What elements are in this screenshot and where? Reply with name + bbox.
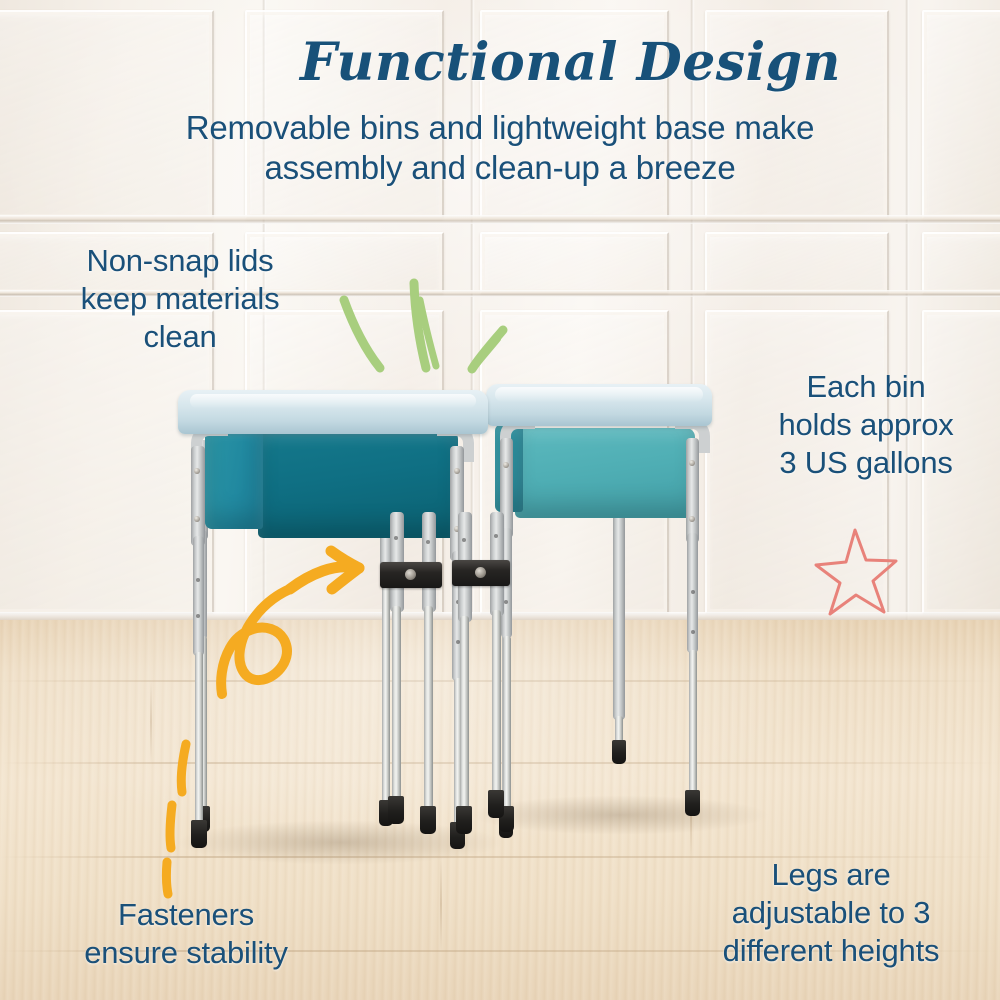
table-leg-extension xyxy=(424,606,433,816)
leg-foot xyxy=(456,806,472,834)
infographic-canvas: Functional Design Removable bins and lig… xyxy=(0,0,1000,1000)
table-leg-extension xyxy=(460,616,469,816)
callout-line: 3 US gallons xyxy=(740,444,992,482)
callout-line: Legs are xyxy=(670,856,992,894)
callout-adjustable-legs: Legs are adjustable to 3 different heigh… xyxy=(670,856,992,970)
leg-foot xyxy=(388,796,404,824)
table-leg-extension xyxy=(689,650,697,800)
leg-adjust-hole xyxy=(494,534,498,538)
leg-adjust-hole xyxy=(196,614,200,618)
leg-adjust-hole xyxy=(196,578,200,582)
leg-adjust-hole xyxy=(462,538,466,542)
callout-line: Non-snap lids xyxy=(30,242,330,280)
table-shadow xyxy=(470,795,770,835)
subtitle: Removable bins and lightweight base make… xyxy=(90,108,910,188)
table-leg xyxy=(191,446,205,546)
wall-rail-molding xyxy=(0,215,1000,224)
wall-panel xyxy=(705,232,889,294)
leg-adjust-hole xyxy=(691,590,695,594)
leg-foot xyxy=(488,790,504,818)
leg-rivet xyxy=(503,462,509,468)
callout-line: different heights xyxy=(670,932,992,970)
table-leg-extension xyxy=(503,636,511,816)
leg-rivet xyxy=(454,468,460,474)
wall-panel xyxy=(922,232,1000,294)
leg-foot xyxy=(420,806,436,834)
callout-line: Each bin xyxy=(740,368,992,406)
leg-foot xyxy=(685,790,700,816)
table-leg-lower xyxy=(193,536,204,656)
callout-line: clean xyxy=(30,318,330,356)
leg-foot xyxy=(191,820,207,848)
callout-line: keep materials xyxy=(30,280,330,318)
callout-line: Fasteners xyxy=(26,896,346,934)
leg-adjust-hole xyxy=(504,600,508,604)
leg-rivet xyxy=(194,468,200,474)
leg-foot xyxy=(612,740,626,764)
callout-line: ensure stability xyxy=(26,934,346,972)
table-leg-extension xyxy=(195,652,203,832)
leg-rivet xyxy=(194,516,200,522)
clamp-screw-icon xyxy=(475,567,486,578)
table-leg-extension xyxy=(382,566,390,806)
table-top-surface xyxy=(178,390,488,434)
wall-panel xyxy=(922,10,1000,219)
callout-bin-capacity: Each bin holds approx 3 US gallons xyxy=(740,368,992,482)
table-leg-extension xyxy=(492,610,501,800)
clamp-screw-icon xyxy=(405,569,416,580)
wall-seam xyxy=(905,0,910,625)
table-top-surface xyxy=(486,384,712,426)
leg-adjust-hole xyxy=(394,536,398,540)
leg-rivet xyxy=(689,460,695,466)
page-title: Functional Design xyxy=(300,32,841,93)
leg-adjust-hole xyxy=(426,540,430,544)
table-leg xyxy=(686,438,699,543)
callout-non-snap-lids: Non-snap lids keep materials clean xyxy=(30,242,330,356)
leg-rivet xyxy=(689,516,695,522)
callout-fasteners: Fasteners ensure stability xyxy=(26,896,346,972)
storage-bin-light-teal xyxy=(515,428,695,518)
leg-adjust-hole xyxy=(691,630,695,634)
table-leg-extension xyxy=(392,606,401,806)
callout-line: holds approx xyxy=(740,406,992,444)
subtitle-line: assembly and clean-up a breeze xyxy=(90,148,910,188)
callout-line: adjustable to 3 xyxy=(670,894,992,932)
wall-panel xyxy=(480,232,669,294)
subtitle-line: Removable bins and lightweight base make xyxy=(90,108,910,148)
